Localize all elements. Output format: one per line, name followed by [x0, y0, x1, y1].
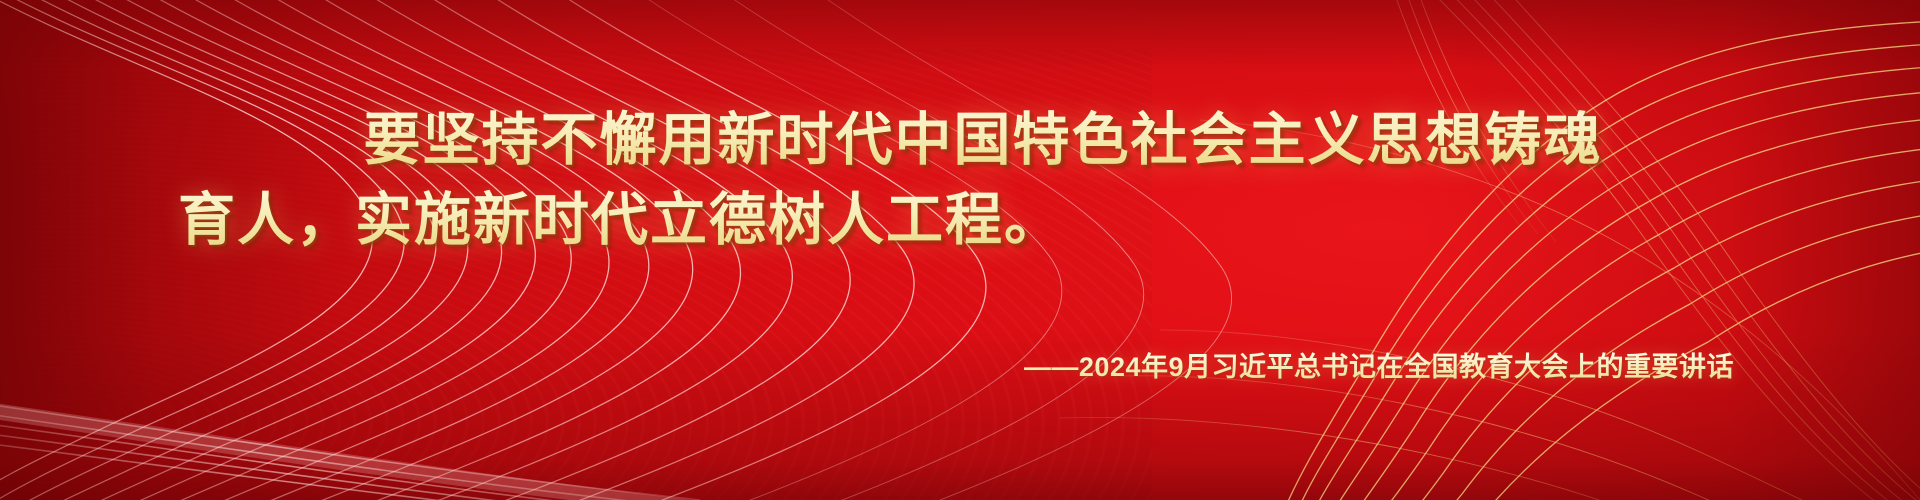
attribution-block: ——2024年9月习近平总书记在全国教育大会上的重要讲话 — [0, 349, 1920, 385]
attribution-text: ——2024年9月习近平总书记在全国教育大会上的重要讲话 — [1024, 352, 1734, 382]
quote-line-1: 要坚持不懈用新时代中国特色社会主义思想铸魂 — [0, 100, 1920, 180]
quote-line-2: 育人，实施新时代立德树人工程。 — [0, 180, 1920, 260]
banner-content: 要坚持不懈用新时代中国特色社会主义思想铸魂 育人，实施新时代立德树人工程。 ——… — [0, 0, 1920, 500]
slogan-banner: 要坚持不懈用新时代中国特色社会主义思想铸魂 育人，实施新时代立德树人工程。 ——… — [0, 0, 1920, 500]
quote-block: 要坚持不懈用新时代中国特色社会主义思想铸魂 育人，实施新时代立德树人工程。 — [0, 100, 1920, 260]
